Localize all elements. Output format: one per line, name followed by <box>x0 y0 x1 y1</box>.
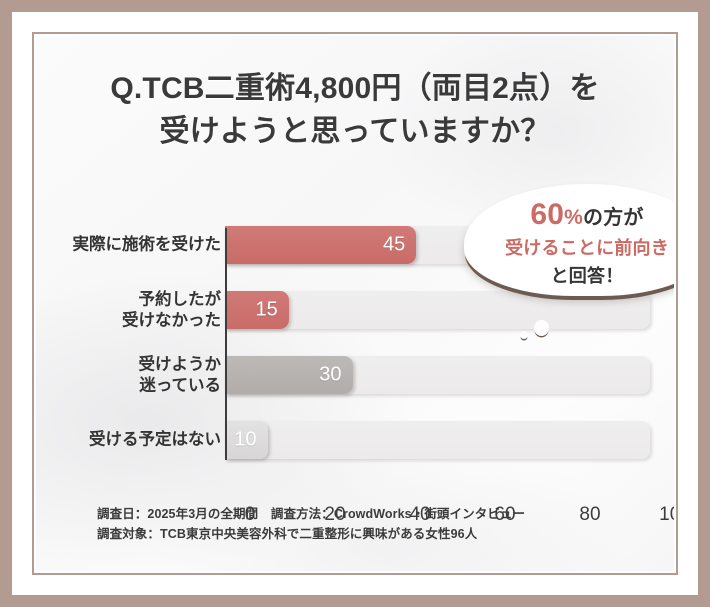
bar-value-text: 15 <box>256 299 278 322</box>
footnote-line-1: 調査日：2025年3月の全期間 調査方法：CrowdWorks・街頭インタビュー <box>97 504 644 525</box>
bar-value-text: 30 <box>319 364 341 387</box>
bar-value-30: 30 <box>225 356 353 394</box>
bubble-line-1: 60%の方が <box>464 198 674 231</box>
footnote-line-2: 調査対象：TCB東京中央美容外科で二重整形に興味がある女性96人 <box>97 524 644 545</box>
category-label: 受けようか 迷っている <box>41 354 221 395</box>
bubble-dot-small <box>520 331 528 339</box>
bar-value-text: 45 <box>383 234 405 257</box>
title-line-2: 受けようと思っていますか？ <box>36 111 674 154</box>
poster-white-mat: Q.TCB二重術4,800円（両目2点）を 受けようと思っていますか？ 実際に施… <box>12 12 698 595</box>
category-label: 実際に施術を受けた <box>41 235 221 256</box>
bubble-dot-large <box>534 320 549 336</box>
chart-row: 予約したが 受けなかった 15 <box>36 291 674 329</box>
poster-outer-frame: Q.TCB二重術4,800円（両目2点）を 受けようと思っていますか？ 実際に施… <box>0 0 710 607</box>
callout-speech-bubble: 60%の方が 受けることに前向き と回答！ <box>464 184 674 296</box>
bubble-line-2: 受けることに前向き <box>464 234 674 260</box>
bar-track <box>225 421 650 459</box>
bubble-line-3: と回答！ <box>464 262 674 288</box>
bar-value-15: 15 <box>225 291 289 329</box>
bar-track <box>225 291 650 329</box>
bar-value-10: 10 <box>225 421 268 459</box>
chart-row: 受けようか 迷っている 30 <box>36 356 674 394</box>
infographic-card: Q.TCB二重術4,800円（両目2点）を 受けようと思っていますか？ 実際に施… <box>36 36 674 571</box>
bubble-percent: 60 <box>530 198 564 231</box>
x-tick-100: 100 <box>659 504 674 526</box>
y-axis-line <box>225 228 227 460</box>
title-line-1: Q.TCB二重術4,800円（両目2点）を <box>110 72 599 105</box>
bar-value-45: 45 <box>225 226 416 264</box>
bubble-text: 60%の方が 受けることに前向き と回答！ <box>464 198 674 288</box>
bar-value-text: 10 <box>234 429 256 452</box>
bubble-percent-sign: % <box>564 206 583 229</box>
chart-row: 受ける予定はない 10 <box>36 421 674 459</box>
category-label: 予約したが 受けなかった <box>41 289 221 330</box>
page-title: Q.TCB二重術4,800円（両目2点）を 受けようと思っていますか？ <box>36 68 674 153</box>
category-label: 受ける予定はない <box>41 430 221 451</box>
survey-footnote: 調査日：2025年3月の全期間 調査方法：CrowdWorks・街頭インタビュー… <box>97 504 644 545</box>
bubble-line-1-tail: の方が <box>583 207 644 229</box>
